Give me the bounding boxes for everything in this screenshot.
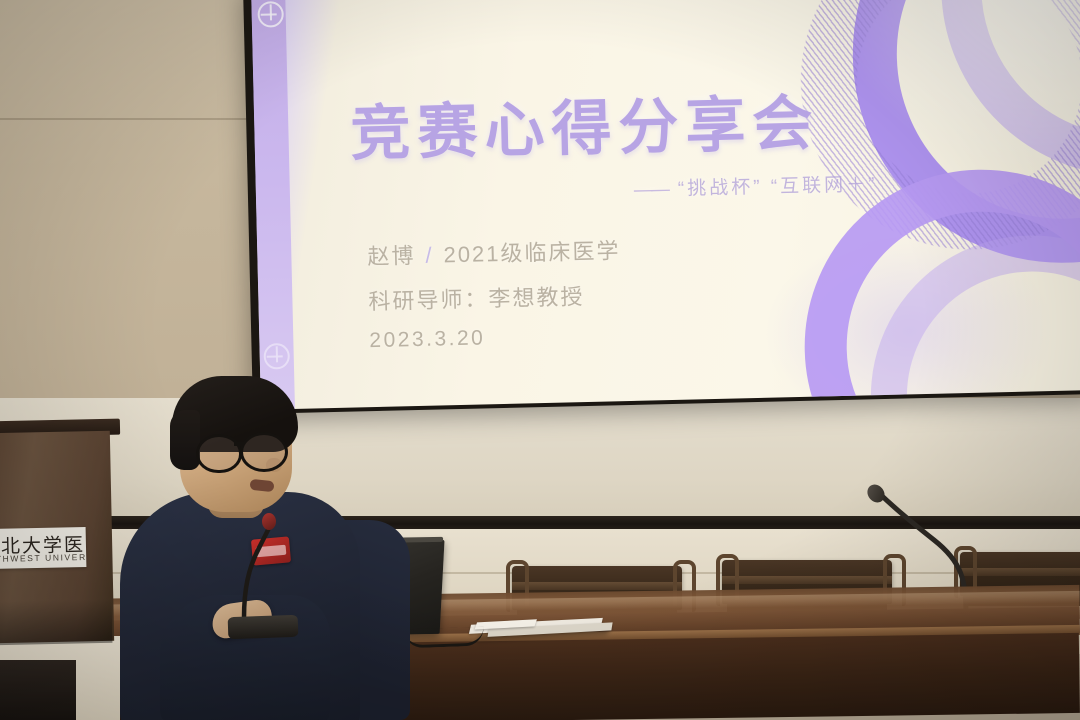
presenter-hair-side	[170, 410, 200, 470]
lectern-shading	[0, 599, 112, 646]
eyeglasses-bridge	[234, 442, 244, 446]
microphone-base-speaker	[228, 615, 299, 639]
slide-date: 2023.3.20	[369, 323, 623, 353]
slide-presenter-name: 赵博	[367, 243, 416, 269]
slide-presenter-program: 2021级临床医学	[443, 238, 620, 267]
photo-scene: 竞赛心得分享会 ——“挑战杯” “互联网＋” 赵博/2021级临床医学 科研导师…	[0, 0, 1080, 720]
slide-presenter-line: 赵博/2021级临床医学	[367, 233, 621, 271]
lectern-base-shadow	[0, 660, 76, 720]
slide-title: 竞赛心得分享会	[349, 74, 820, 172]
microphone-capsule-speaker	[262, 513, 276, 530]
lectern-nameplate-en: NORTHWEST UNIVERSITY	[0, 551, 86, 564]
slide-advisor-line: 科研导师：李想教授	[368, 278, 622, 316]
lectern-nameplate: ⻄北⼤学医学部 NORTHWEST UNIVERSITY	[0, 527, 86, 569]
slide-presenter-separator: /	[425, 243, 434, 268]
slide-subtitle-dash: ——	[634, 179, 668, 201]
slide-meta-block: 赵博/2021级临床医学 科研导师：李想教授 2023.3.20	[367, 233, 623, 353]
eyeglasses-left-lens	[196, 434, 242, 473]
slide-highlight-glare	[827, 0, 1080, 178]
projection-screen: 竞赛心得分享会 ——“挑战杯” “互联网＋” 赵博/2021级临床医学 科研导师…	[251, 0, 1080, 410]
projection-screen-frame: 竞赛心得分享会 ——“挑战杯” “互联网＋” 赵博/2021级临床医学 科研导师…	[243, 0, 1080, 414]
eyeglasses-right-lens	[240, 432, 288, 472]
microphone-gooseneck-speaker	[236, 520, 276, 620]
slide-subtitle-text: “挑战杯” “互联网＋”	[678, 174, 878, 200]
chair-rail	[722, 576, 892, 584]
chair-rail	[512, 582, 682, 590]
chair-rail	[960, 568, 1080, 576]
slide-subtitle: ——“挑战杯” “互联网＋”	[634, 169, 878, 202]
